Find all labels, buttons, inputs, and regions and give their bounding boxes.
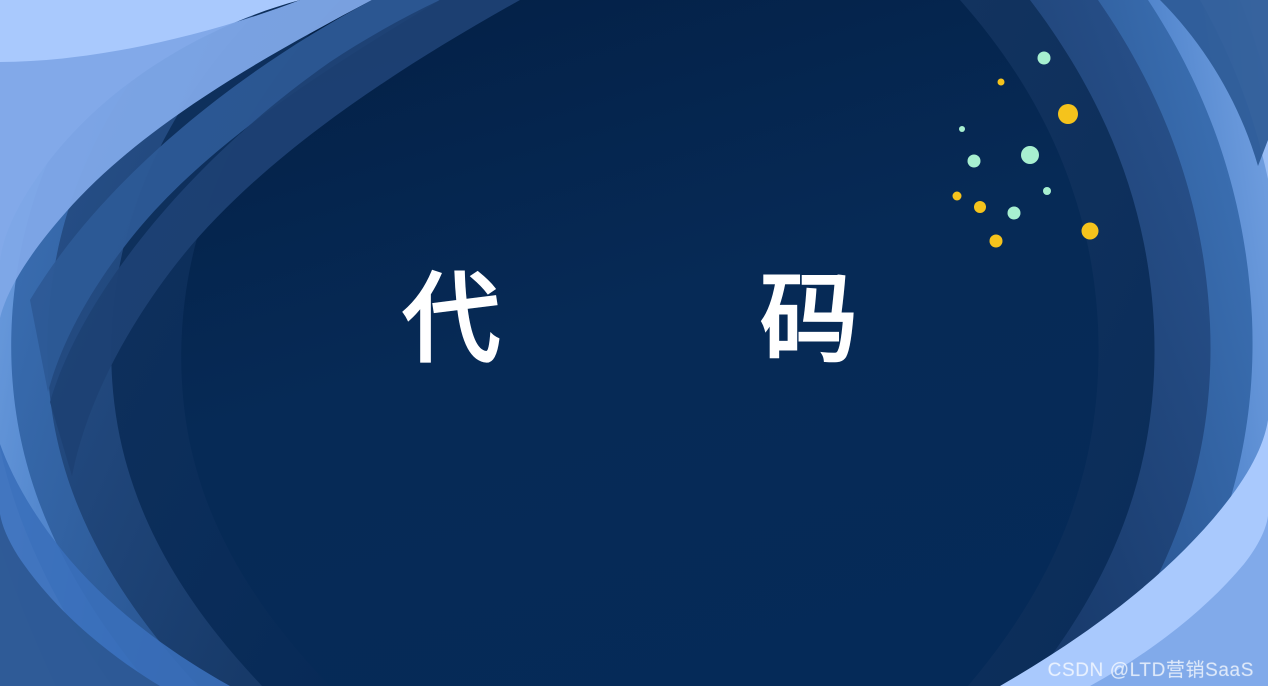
csdn-watermark: CSDN @LTD营销SaaS	[1048, 655, 1254, 682]
page-title: 代 码	[402, 271, 865, 369]
title-container: 代 码	[0, 0, 1268, 686]
presentation-slide: 代 码 CSDN @LTD营销SaaS	[0, 0, 1268, 686]
